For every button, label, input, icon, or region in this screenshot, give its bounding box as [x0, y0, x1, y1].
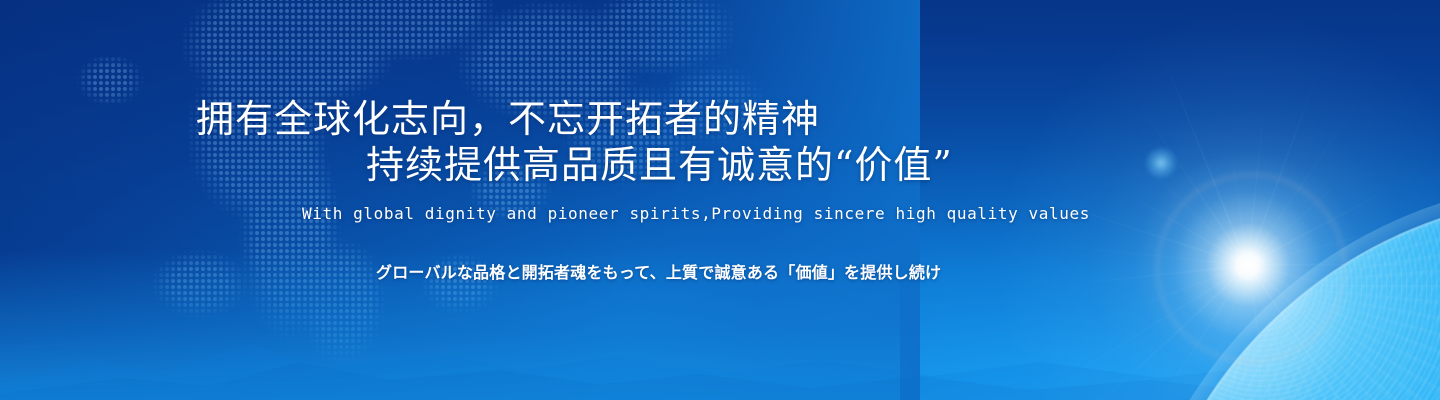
subtitle-japanese: グローバルな品格と開拓者魂をもって、上質で誠意ある「価値」を提供し続け — [376, 259, 941, 283]
hero-banner: 拥有全球化志向，不忘开拓者的精神 持续提供高品质且有诚意的“价值” With g… — [0, 0, 1440, 400]
subtitle-english: With global dignity and pioneer spirits,… — [302, 204, 1090, 223]
headline-line-2: 持续提供高品质且有诚意的“价值” — [366, 134, 953, 189]
